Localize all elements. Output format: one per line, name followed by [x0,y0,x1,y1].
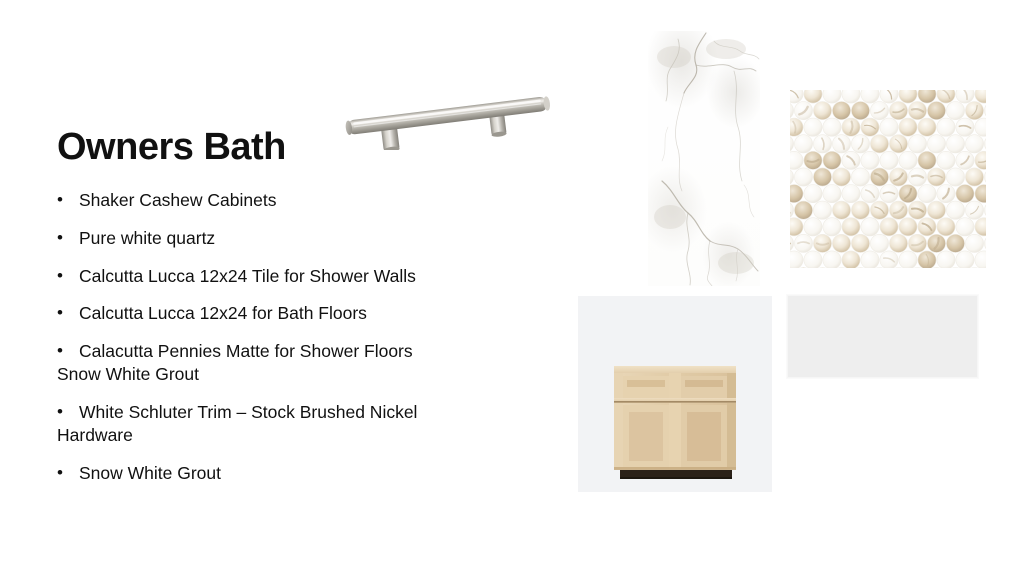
list-item: • White Schluter Trim – Stock Brushed Ni… [57,401,527,448]
list-item-line-primary: White Schluter Trim – Stock Brushed Nick… [79,402,417,422]
list-item-label: White Schluter Trim – Stock Brushed Nick… [57,401,527,448]
list-item-label: Shaker Cashew Cabinets [57,189,527,212]
page-title: Owners Bath [57,128,286,168]
list-item: • Pure white quartz [57,227,527,250]
list-item-line-primary: Calacutta Pennies Matte for Shower Floor… [79,341,413,361]
list-item-label: Snow White Grout [57,462,527,485]
list-item-label: Calcutta Lucca 12x24 Tile for Shower Wal… [57,265,527,288]
list-item: • Shaker Cashew Cabinets [57,189,527,212]
brushed-nickel-bar-pull-image [340,76,562,150]
list-item: • Calacutta Pennies Matte for Shower Flo… [57,340,527,387]
list-item: • Calcutta Lucca 12x24 Tile for Shower W… [57,265,527,288]
bar-pull-illustration [340,76,562,150]
list-item-label: Pure white quartz [57,227,527,250]
cabinet-body [614,366,736,479]
calcutta-lucca-tile-image [648,31,760,286]
list-item: • Calcutta Lucca 12x24 for Bath Floors [57,302,527,325]
specification-list: • Shaker Cashew Cabinets • Pure white qu… [57,189,527,500]
calacutta-pennies-mosaic-image [790,90,986,268]
list-item-line-secondary: Snow White Grout [57,363,527,386]
marble-veining [648,31,760,286]
list-item-label: Calacutta Pennies Matte for Shower Floor… [57,340,527,387]
shaker-cashew-cabinet-image [578,296,772,492]
penny-round-pattern [790,90,986,268]
list-item-line-secondary: Hardware [57,424,527,447]
design-board-slide: Owners Bath • Shaker Cashew Cabinets • P… [0,0,1024,576]
pure-white-quartz-image [787,295,978,378]
list-item: • Snow White Grout [57,462,527,485]
list-item-label: Calcutta Lucca 12x24 for Bath Floors [57,302,527,325]
cabinet-illustration [578,296,772,492]
